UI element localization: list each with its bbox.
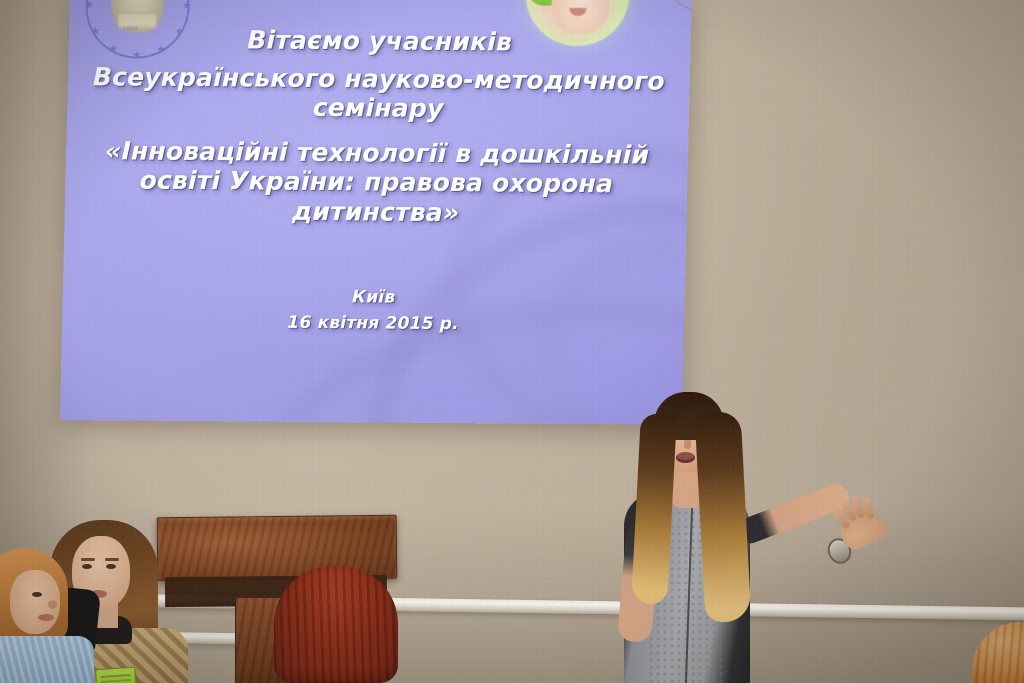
photograph-scene: 1834 Вітаємо учасників Всеукраїнського н… (0, 0, 1024, 683)
slide-organizer-line: Всеукраїнського науково-методичного семі… (67, 62, 690, 125)
slide-theme-line: «Інноваційні технології в дошкільній осв… (64, 136, 688, 229)
badge-text-lines (101, 674, 131, 678)
attendee-nose (48, 600, 57, 609)
attendee-eyebrow (105, 558, 119, 561)
attendee-blue-knit-top (0, 636, 94, 683)
presenter-hair-right-strand (695, 411, 752, 623)
projection-screen: 1834 Вітаємо учасників Всеукраїнського н… (60, 0, 692, 425)
slide-place-date-line: Київ 16 квітня 2015 р. (62, 283, 685, 339)
seated-attendee-blue-top (0, 548, 102, 683)
presenter-mouth (676, 452, 695, 463)
slide-welcome-line: Вітаємо учасників (68, 24, 691, 58)
attendee-mouth (38, 614, 54, 621)
attendee-eye (32, 592, 42, 597)
foreground-attendee-red-hair (274, 566, 398, 683)
attendee-eye (106, 564, 116, 569)
standing-presenter (588, 372, 928, 683)
